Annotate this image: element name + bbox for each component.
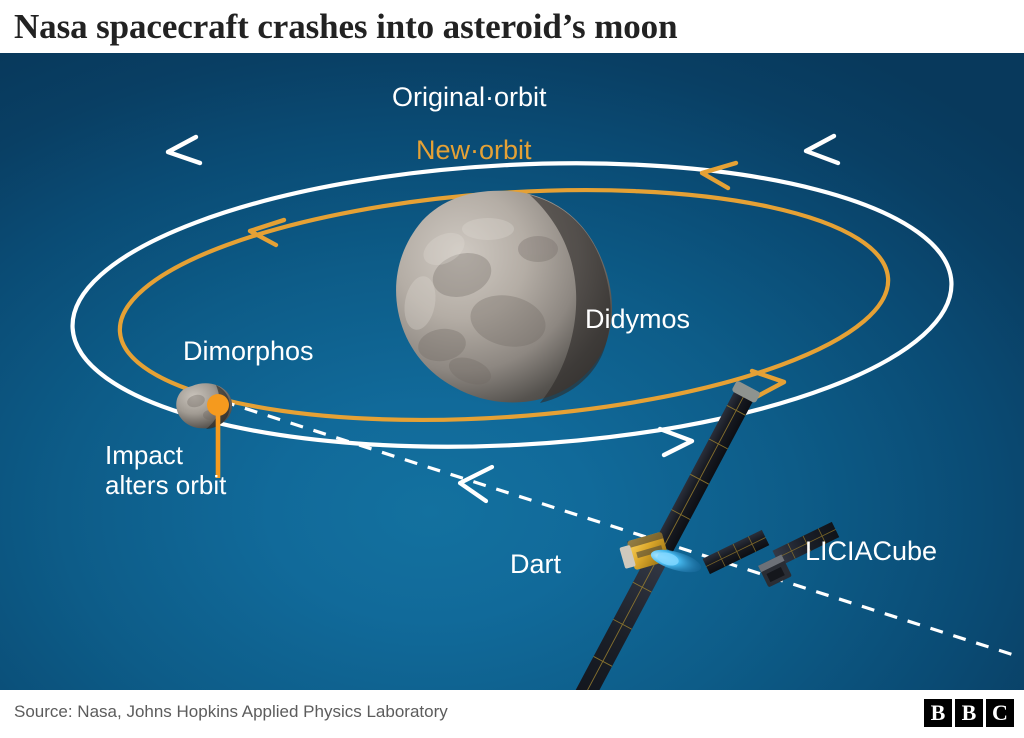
headline-bar: Nasa spacecraft crashes into asteroid’s …: [0, 0, 1024, 53]
source-attribution: Source: Nasa, Johns Hopkins Applied Phys…: [14, 702, 448, 722]
didymos-asteroid: [396, 191, 612, 403]
bbc-logo-block-3: C: [986, 699, 1014, 727]
infographic-page: Nasa spacecraft crashes into asteroid’s …: [0, 0, 1024, 738]
orbit-arrow-icon: [702, 163, 736, 188]
bbc-logo-block-2: B: [955, 699, 983, 727]
orbit-arrow-icon: [806, 136, 838, 163]
orbit-diagram: [0, 53, 1024, 690]
footer-bar: Source: Nasa, Johns Hopkins Applied Phys…: [0, 690, 1024, 738]
illustration-panel: Original·orbit New·orbit Didymos Dimorph…: [0, 53, 1024, 690]
orbit-arrow-icon: [660, 429, 692, 455]
dart-spacecraft: [559, 380, 761, 690]
liciacube-spacecraft: [702, 522, 839, 588]
impact-marker: [207, 394, 229, 478]
page-title: Nasa spacecraft crashes into asteroid’s …: [14, 9, 677, 44]
bbc-logo-block-1: B: [924, 699, 952, 727]
bbc-logo: B B C: [924, 699, 1014, 727]
orbit-arrow-icon: [168, 137, 200, 163]
